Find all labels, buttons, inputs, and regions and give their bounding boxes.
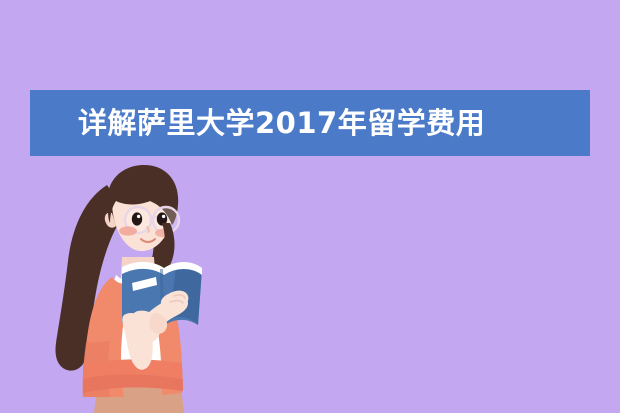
right-eye-highlight bbox=[162, 215, 165, 218]
left-eye-highlight bbox=[137, 215, 140, 218]
illustration-woman-reading bbox=[50, 165, 225, 413]
article-cover-image: 详解萨里大学2017年留学费用 bbox=[0, 0, 620, 413]
page-title: 详解萨里大学2017年留学费用 bbox=[78, 109, 485, 138]
title-banner: 详解萨里大学2017年留学费用 bbox=[30, 90, 590, 156]
left-eye bbox=[132, 212, 142, 225]
left-blush bbox=[119, 226, 137, 235]
